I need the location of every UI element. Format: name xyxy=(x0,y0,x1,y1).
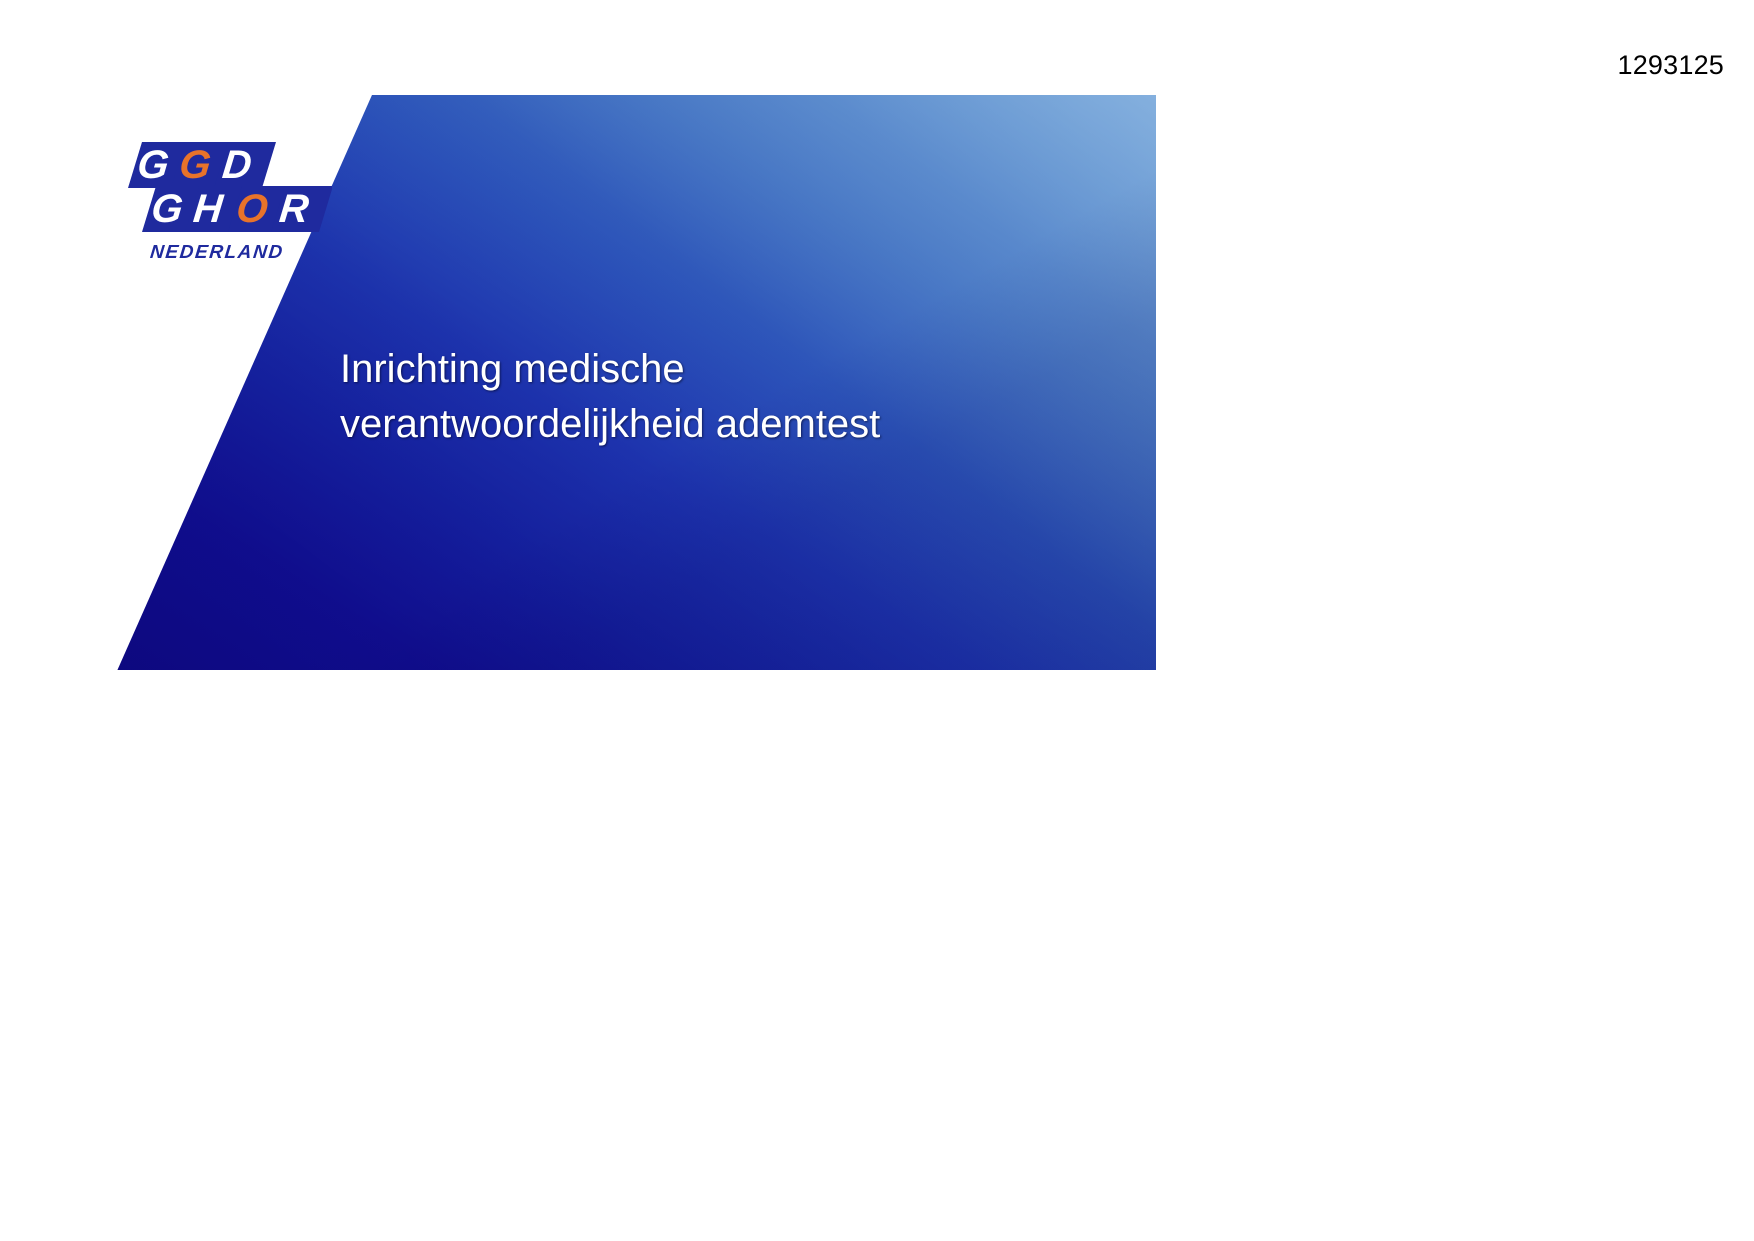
svg-text:G: G xyxy=(135,143,171,187)
svg-text:D: D xyxy=(220,143,254,187)
logo-row-ghor: G H O R xyxy=(142,186,332,232)
slide-title: Inrichting medische verantwoordelijkheid… xyxy=(340,342,1100,452)
logo-tagline: NEDERLAND xyxy=(149,242,285,263)
logo-row-ggd: G G D xyxy=(128,142,276,188)
svg-text:R: R xyxy=(277,187,311,231)
svg-text:G: G xyxy=(177,143,213,187)
svg-text:O: O xyxy=(234,187,270,231)
slide-canvas: G G D G H O R NEDERLAND Inrichting medis… xyxy=(82,95,1156,670)
svg-text:G: G xyxy=(149,187,185,231)
svg-text:H: H xyxy=(191,187,226,231)
ggd-ghor-nederland-logo: G G D G H O R NEDERLAND xyxy=(122,140,332,275)
page-number: 1293125 xyxy=(1617,50,1724,81)
